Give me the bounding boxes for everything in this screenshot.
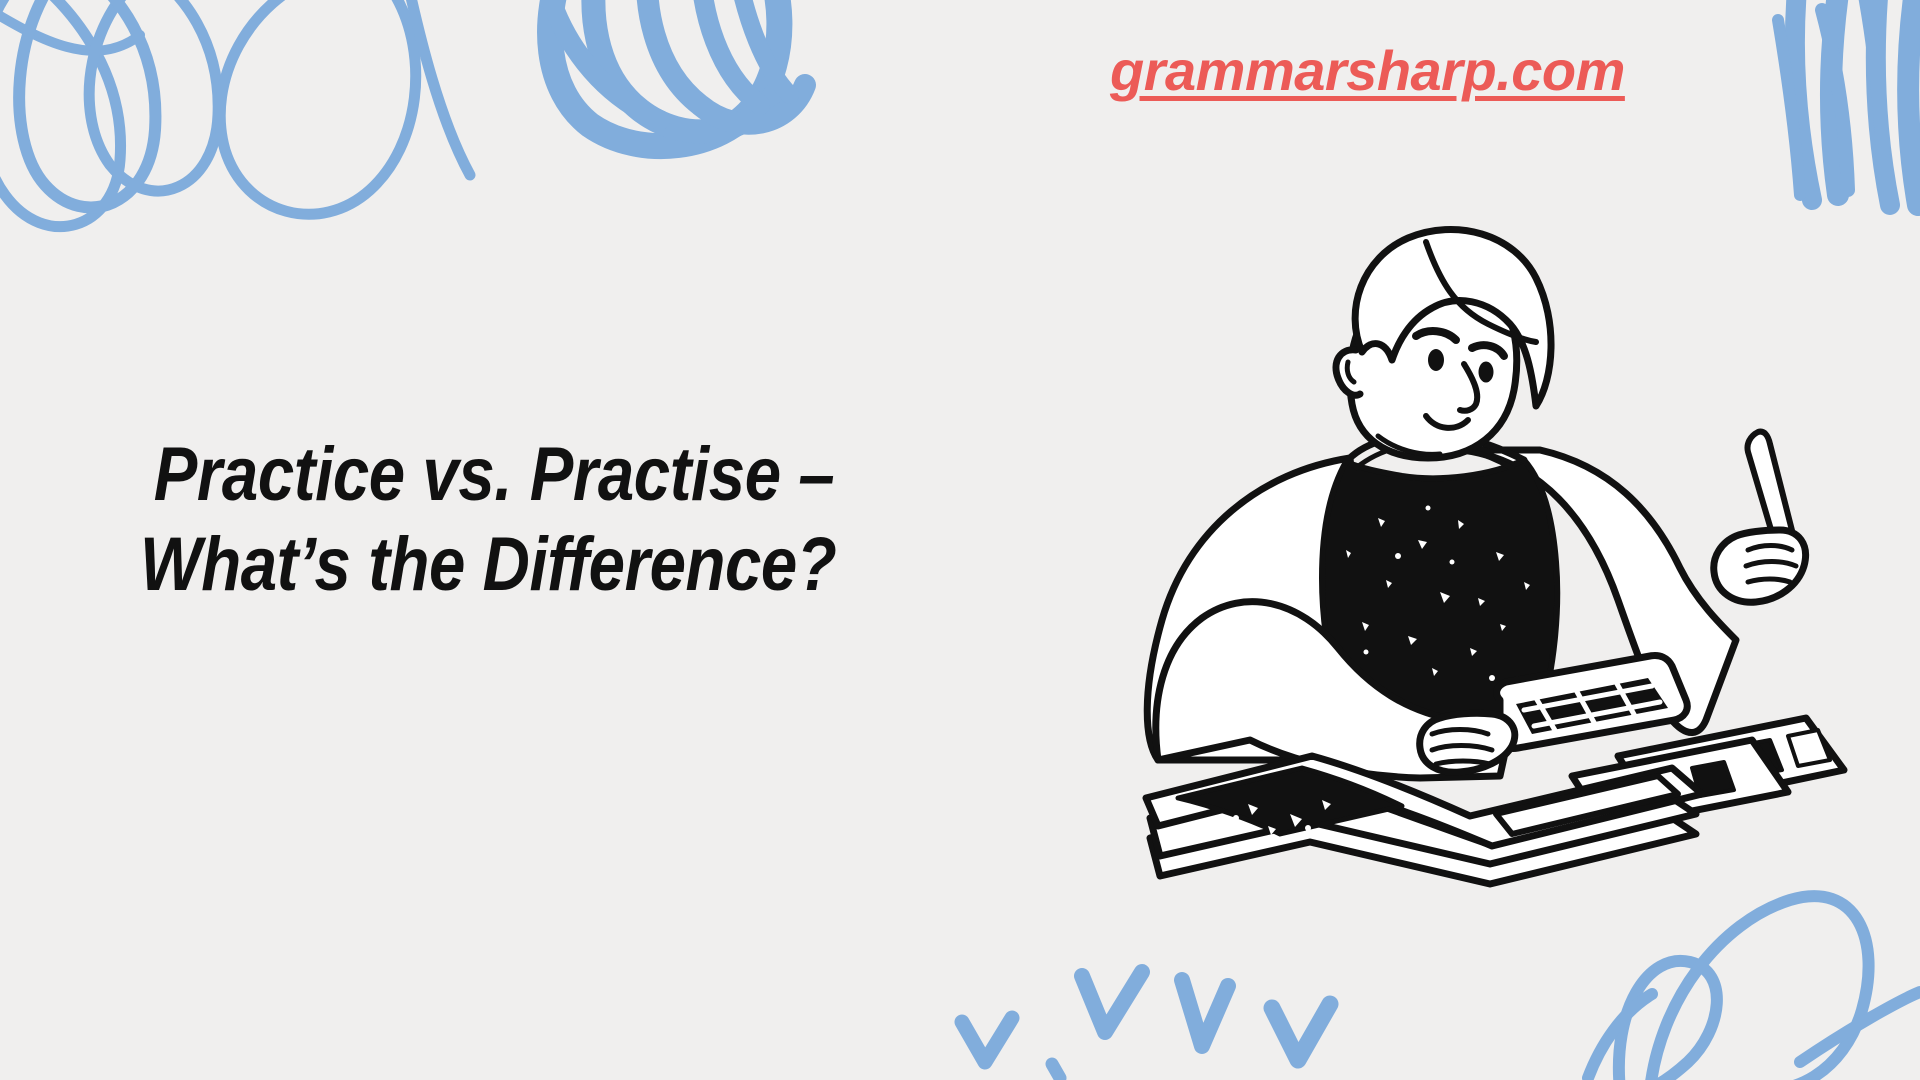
poster-canvas: grammarsharp.com Practice vs. Practise –…: [0, 0, 1920, 1080]
stroke-scribble-top-right: [1778, 0, 1918, 205]
person-studying-illustration: [1140, 200, 1860, 920]
page-title-line-1: Practice vs. Practise –: [140, 430, 940, 520]
swirl-scribble-bottom-right: [1588, 896, 1920, 1080]
check-mark-2: [1082, 972, 1142, 1032]
check-dot: [1052, 1064, 1060, 1078]
check-mark-1: [962, 1018, 1012, 1062]
right-eye: [1479, 362, 1494, 383]
site-url[interactable]: grammarsharp.com: [1110, 38, 1770, 103]
page-title: Practice vs. Practise – What’s the Diffe…: [140, 430, 1070, 609]
left-eye: [1428, 349, 1444, 371]
check-mark-4: [1272, 1004, 1330, 1060]
blob-scribble-top-center: [545, 0, 805, 146]
page-title-line-2: What’s the Difference?: [140, 520, 940, 610]
check-scribbles-bottom-center: [962, 972, 1330, 1078]
loop-scribble-top-left: [0, 0, 470, 227]
loop-scribble-left-edge: [19, 0, 155, 207]
check-mark-3: [1182, 980, 1228, 1046]
